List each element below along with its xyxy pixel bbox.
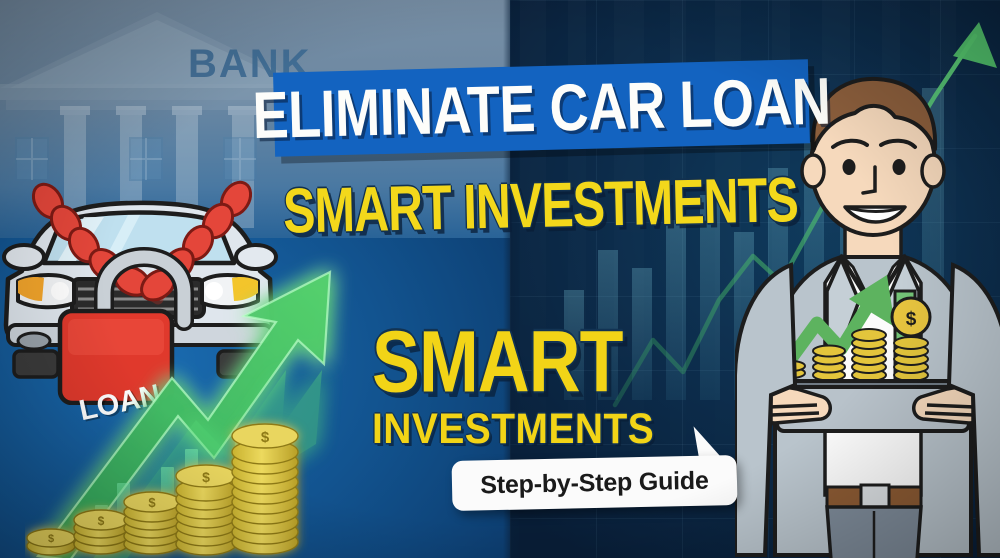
callout-bubble-label: Step-by-Step Guide — [452, 455, 738, 511]
headline-banner-label: ELIMINATE CAR LOAN — [292, 54, 792, 162]
svg-text:$: $ — [261, 429, 270, 446]
svg-text:$: $ — [48, 533, 54, 545]
headline-banner: ELIMINATE CAR LOAN — [273, 59, 810, 157]
svg-text:$: $ — [906, 309, 917, 330]
body-headline-line2: INVESTMENTS — [372, 404, 669, 451]
svg-text:$: $ — [148, 495, 156, 510]
subheadline: SMART INVESTMENTS — [299, 165, 780, 246]
body-headline-line1-label: SMART — [372, 322, 623, 401]
body-headline-line1: SMART — [372, 322, 644, 392]
thumbnail-canvas: BANK — [0, 0, 1000, 558]
svg-text:$: $ — [98, 514, 105, 528]
callout-bubble: Step-by-Step Guide — [452, 455, 738, 511]
subheadline-label: SMART INVESTMENTS — [282, 162, 798, 247]
svg-text:$: $ — [202, 469, 210, 485]
coin-stacks-growth: $ $ $ — [25, 400, 325, 558]
body-headline-line2-label: INVESTMENTS — [372, 404, 654, 453]
